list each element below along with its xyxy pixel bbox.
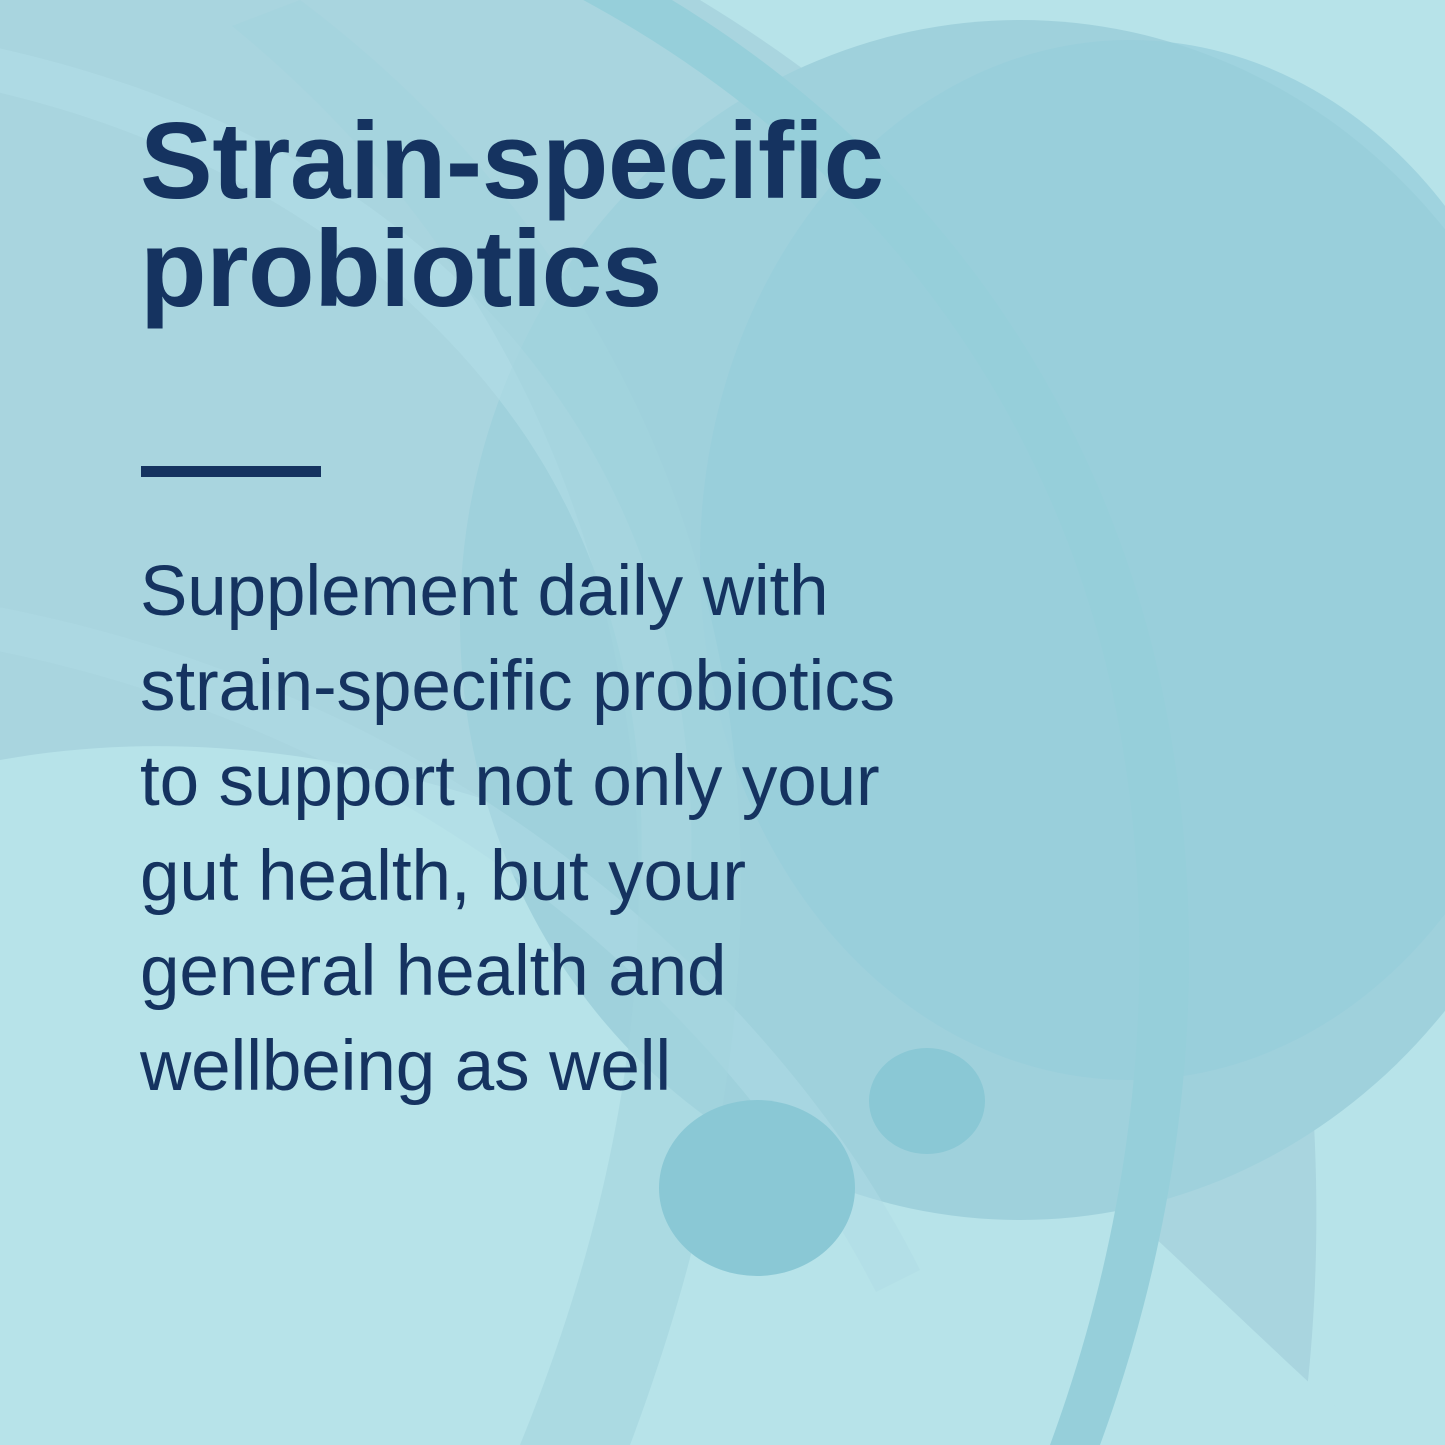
title-divider-rule [141, 466, 321, 477]
promo-card: Strain-specific probiotics Supplement da… [0, 0, 1445, 1445]
page-title: Strain-specific probiotics [140, 108, 1060, 324]
text-block: Strain-specific probiotics Supplement da… [140, 0, 1060, 1445]
body-paragraph: Supplement daily with strain-specific pr… [140, 544, 1060, 1114]
